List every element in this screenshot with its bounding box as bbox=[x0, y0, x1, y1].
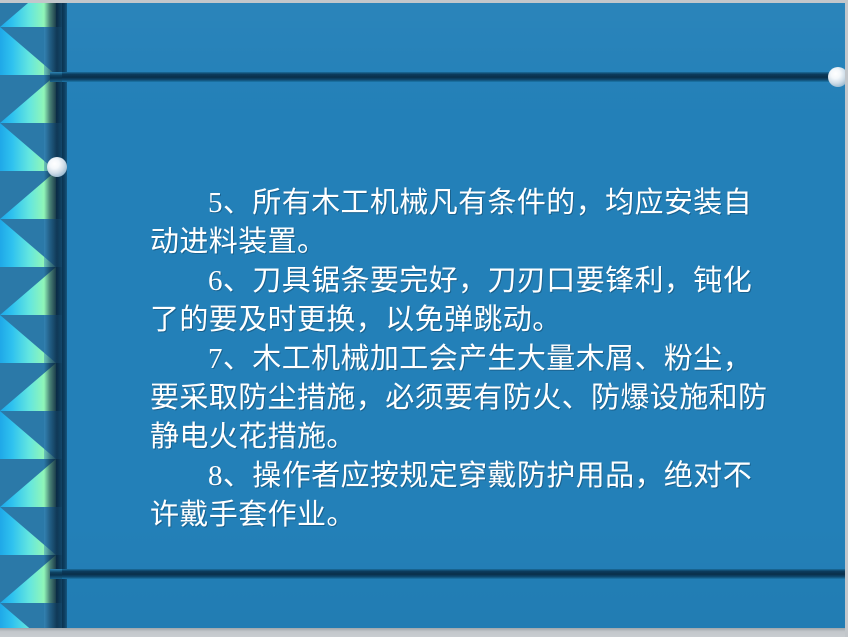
presentation-slide[interactable]: 5、所有木工机械凡有条件的，均应安装自动进料装置。 6、刀具锯条要完好，刀刃口要… bbox=[0, 0, 848, 637]
body-paragraph-5: 5、所有木工机械凡有条件的，均应安装自动进料装置。 bbox=[150, 184, 770, 262]
body-paragraph-6: 6、刀具锯条要完好，刀刃口要锋利，钝化了的要及时更换，以免弹跳动。 bbox=[150, 262, 770, 340]
slide-body-text[interactable]: 5、所有木工机械凡有条件的，均应安装自动进料装置。 6、刀具锯条要完好，刀刃口要… bbox=[150, 184, 770, 535]
left-middle-handle[interactable] bbox=[47, 157, 67, 177]
frame-vertical-rule bbox=[62, 3, 67, 634]
bottom-edge-strip bbox=[0, 628, 848, 637]
frame-top-rule bbox=[62, 72, 848, 82]
frame-bottom-rule bbox=[62, 569, 848, 579]
body-paragraph-8: 8、操作者应按规定穿戴防护用品，绝对不许戴手套作业。 bbox=[150, 457, 770, 535]
body-paragraph-7: 7、木工机械加工会产生大量木屑、粉尘，要采取防尘措施，必须要有防火、防爆设施和防… bbox=[150, 340, 770, 457]
top-edge-strip bbox=[0, 0, 848, 3]
